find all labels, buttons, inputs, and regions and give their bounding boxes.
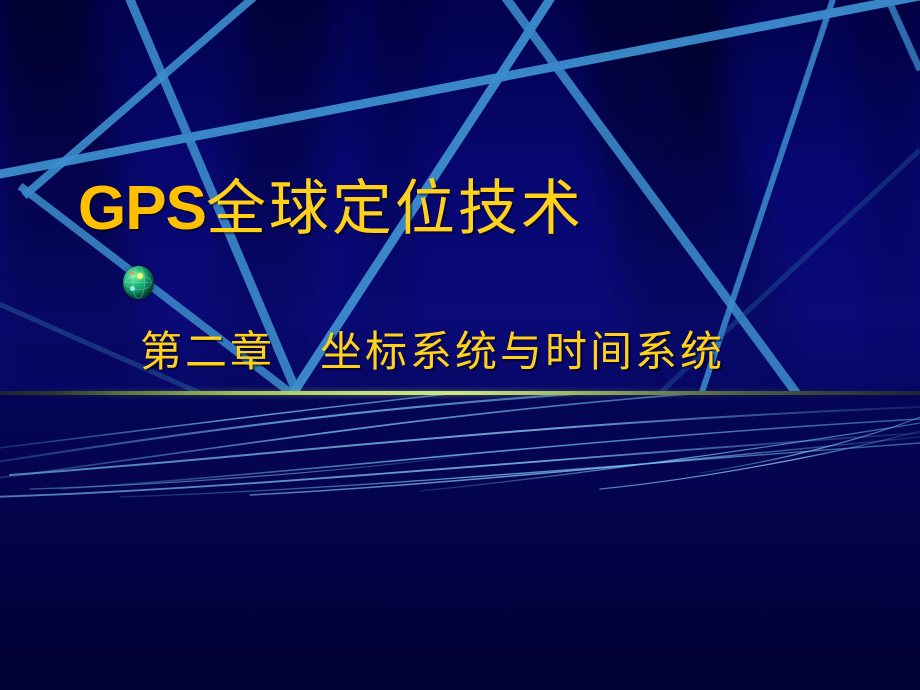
title-block: GPS全球定位技术 第二章 坐标系统与时间系统 [0, 0, 920, 393]
globe-highlight-yellow [137, 273, 143, 279]
swept-thin-arcs [0, 393, 920, 690]
title-cjk-part: 全球定位技术 [206, 174, 584, 244]
page-title: GPS全球定位技术 [78, 178, 584, 240]
bottom-decor-region [0, 393, 920, 690]
globe-icon [123, 266, 154, 299]
globe-graticule [123, 266, 154, 299]
presentation-slide: GPS全球定位技术 第二章 坐标系统与时间系统 [0, 0, 920, 690]
slide-subtitle: 第二章 坐标系统与时间系统 [140, 328, 725, 376]
title-latin-part: GPS [78, 174, 206, 243]
